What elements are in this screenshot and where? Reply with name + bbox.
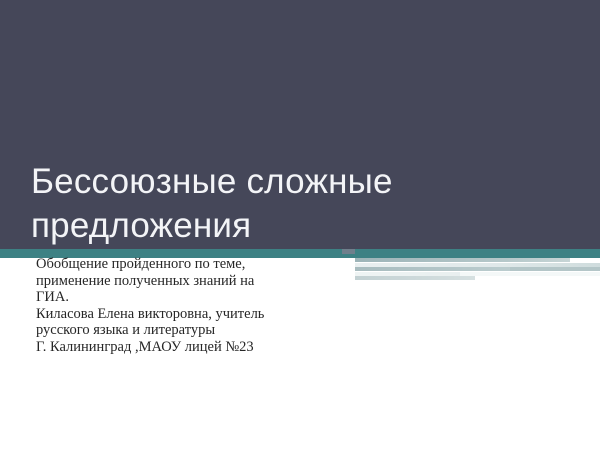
subtitle-line-3: ГИА. [36,289,366,306]
subtitle-line-6: Г. Калининград ,МАОУ лицей №23 [36,339,366,356]
title-line-2: предложения [31,204,571,248]
subtitle-line-2: применение полученных знаний на [36,273,366,290]
accent-notch [342,249,355,254]
stripe-3 [355,267,515,271]
stripe-5 [355,276,475,280]
slide-subtitle: Обобщение пройденного по теме, применени… [36,256,366,355]
subtitle-line-4: Киласова Елена викторовна, учитель [36,306,366,323]
stripe-6 [460,272,600,276]
stripe-1 [355,258,570,262]
presentation-slide: Бессоюзные сложные предложения Обобщение… [0,0,600,450]
stripe-7 [510,267,600,271]
subtitle-line-1: Обобщение пройденного по теме, [36,256,366,273]
slide-title: Бессоюзные сложные предложения [31,160,571,248]
subtitle-line-5: русского языка и литературы [36,322,366,339]
title-line-1: Бессоюзные сложные [31,160,571,204]
